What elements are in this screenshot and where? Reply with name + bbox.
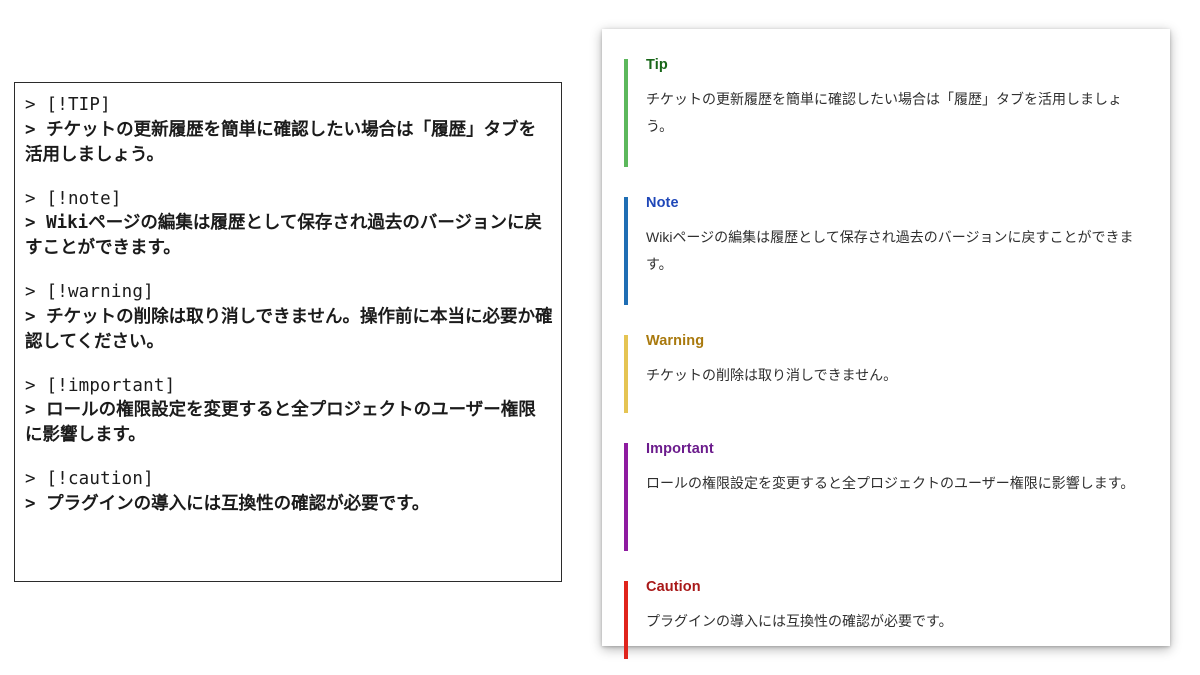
source-block-tag: > [!caution] xyxy=(25,469,154,489)
source-block-tag: > [!important] xyxy=(25,376,175,396)
alert-title: Note xyxy=(646,195,1140,212)
rendered-alerts-card: Tip チケットの更新履歴を簡単に確認したい場合は「履歴」タブを活用しましょう。… xyxy=(602,29,1170,646)
markdown-source-box: > [!TIP] > チケットの更新履歴を簡単に確認したい場合は「履歴」タブを活… xyxy=(14,82,562,582)
alert-body: チケットの削除は取り消しできません。 xyxy=(646,362,1140,389)
alert-title: Caution xyxy=(646,579,1140,596)
source-block: > [!warning] > チケットの削除は取り消しできません。操作前に本当に… xyxy=(25,280,553,355)
alert-body: Wikiページの編集は履歴として保存され過去のバージョンに戻すことができます。 xyxy=(646,224,1140,278)
source-block-tag: > [!note] xyxy=(25,189,122,209)
source-block-tag: > [!warning] xyxy=(25,282,154,302)
alert-caution: Caution プラグインの導入には互換性の確認が必要です。 xyxy=(624,579,1140,661)
source-block: > [!important] > ロールの権限設定を変更すると全プロジェクトのユ… xyxy=(25,374,553,449)
alert-accent-bar xyxy=(624,581,628,659)
alert-accent-bar xyxy=(624,59,628,167)
source-block-text: > ロールの権限設定を変更すると全プロジェクトのユーザー権限に影響します。 xyxy=(25,400,536,445)
alert-title: Tip xyxy=(646,57,1140,74)
alert-warning: Warning チケットの削除は取り消しできません。 xyxy=(624,333,1140,415)
alert-accent-bar xyxy=(624,335,628,413)
source-block-text: > チケットの削除は取り消しできません。操作前に本当に必要か確認してください。 xyxy=(25,307,553,352)
source-block-tag: > [!TIP] xyxy=(25,95,111,115)
alert-body: プラグインの導入には互換性の確認が必要です。 xyxy=(646,608,1140,635)
source-block: > [!note] > Wikiページの編集は履歴として保存され過去のバージョン… xyxy=(25,187,553,262)
alert-body: チケットの更新履歴を簡単に確認したい場合は「履歴」タブを活用しましょう。 xyxy=(646,86,1140,140)
alert-title: Warning xyxy=(646,333,1140,350)
source-block-text: > プラグインの導入には互換性の確認が必要です。 xyxy=(25,494,429,514)
alert-title: Important xyxy=(646,441,1140,458)
alert-accent-bar xyxy=(624,443,628,551)
alert-tip: Tip チケットの更新履歴を簡単に確認したい場合は「履歴」タブを活用しましょう。 xyxy=(624,57,1140,169)
source-block: > [!caution] > プラグインの導入には互換性の確認が必要です。 xyxy=(25,467,553,517)
alert-body: ロールの権限設定を変更すると全プロジェクトのユーザー権限に影響します。 xyxy=(646,470,1140,497)
source-block: > [!TIP] > チケットの更新履歴を簡単に確認したい場合は「履歴」タブを活… xyxy=(25,93,553,168)
source-block-text: > チケットの更新履歴を簡単に確認したい場合は「履歴」タブを活用しましょう。 xyxy=(25,120,536,165)
alert-note: Note Wikiページの編集は履歴として保存され過去のバージョンに戻すことがで… xyxy=(624,195,1140,307)
alert-important: Important ロールの権限設定を変更すると全プロジェクトのユーザー権限に影… xyxy=(624,441,1140,553)
alert-accent-bar xyxy=(624,197,628,305)
source-block-text: > Wikiページの編集は履歴として保存され過去のバージョンに戻すことができます… xyxy=(25,213,542,258)
